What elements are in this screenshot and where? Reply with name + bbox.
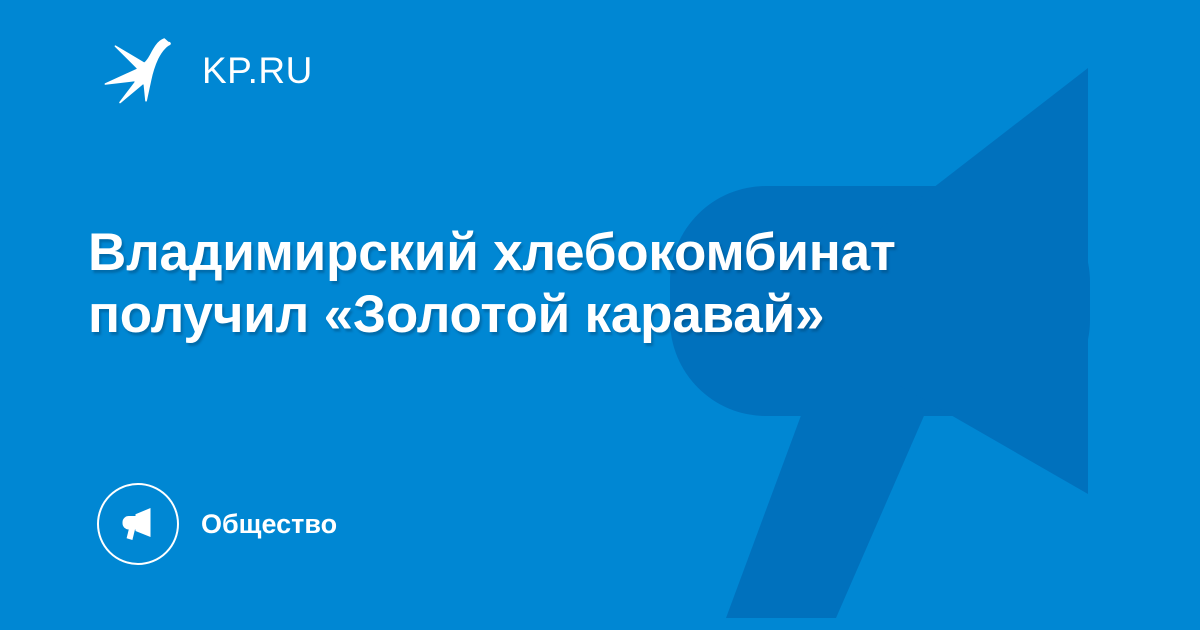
- brand-header[interactable]: KP.RU: [104, 34, 313, 106]
- swallow-bird-icon: [104, 36, 184, 104]
- page-title: Владимирский хлебокомбинат получил «Золо…: [88, 222, 1008, 346]
- social-share-card: KP.RU Владимирский хлебокомбинат получил…: [0, 0, 1200, 630]
- category-badge: [97, 483, 179, 565]
- megaphone-icon: [116, 502, 160, 546]
- category-label: Общество: [201, 511, 337, 538]
- category-tag[interactable]: Общество: [97, 483, 337, 565]
- brand-name: KP.RU: [202, 52, 313, 89]
